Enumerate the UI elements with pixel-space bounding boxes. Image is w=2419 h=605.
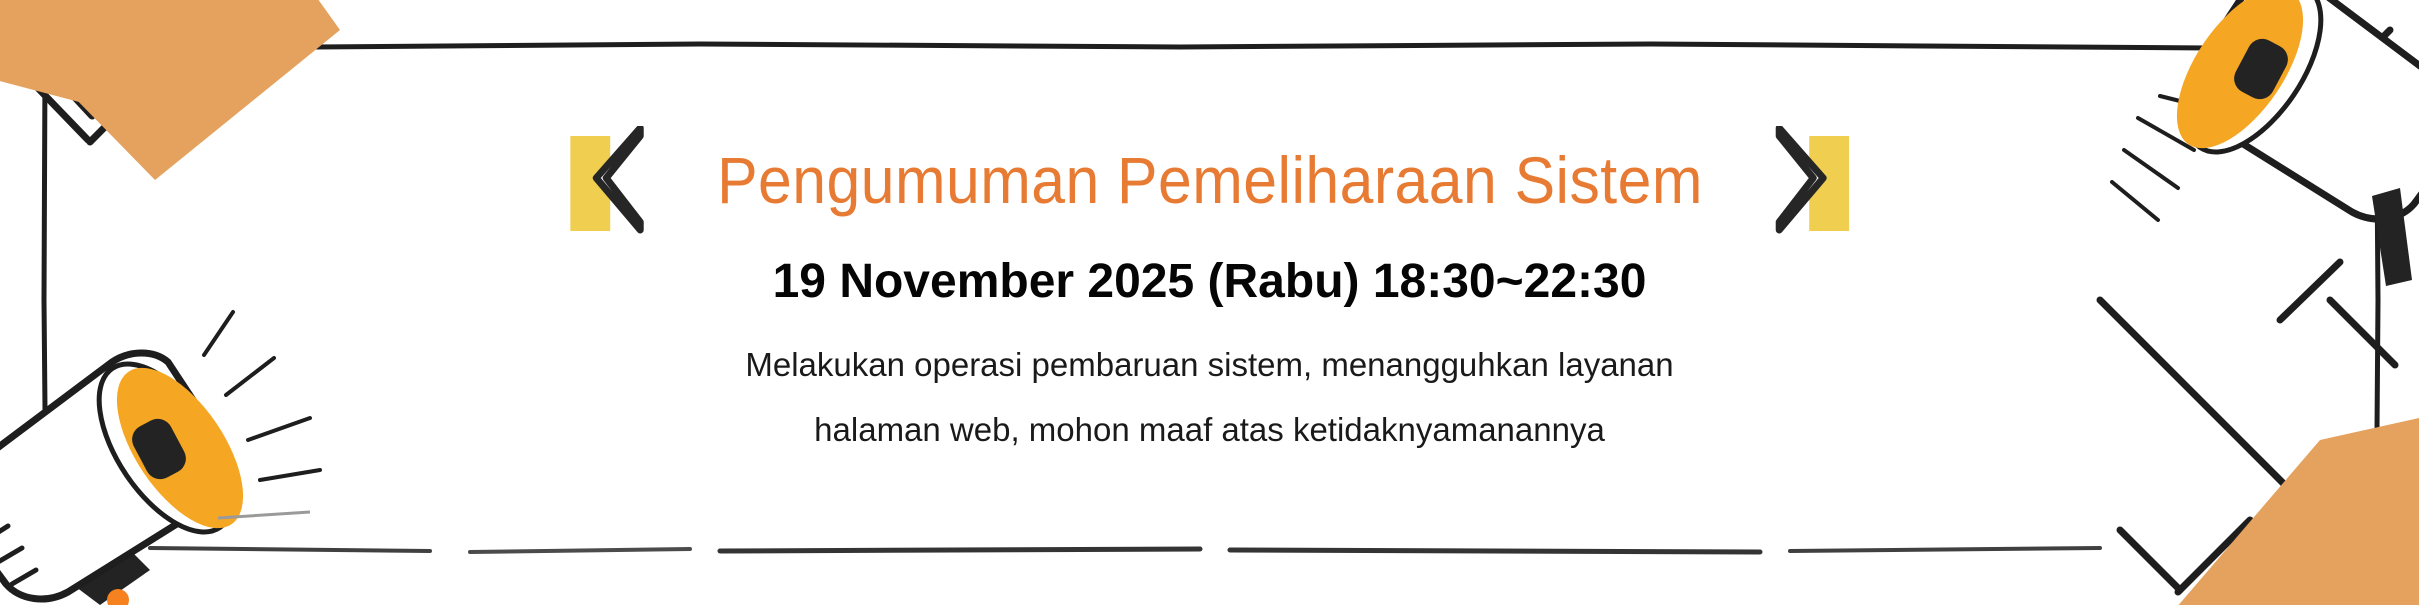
page-title: Pengumuman Pemeliharaan Sistem xyxy=(717,147,1703,213)
maintenance-datetime: 19 November 2025 (Rabu) 18:30~22:30 xyxy=(0,258,2419,306)
banner-content: Pengumuman Pemeliharaan Sistem 19 Novemb… xyxy=(0,0,2419,605)
right-angle-bracket-icon xyxy=(1771,126,1849,234)
body-text-line-1: Melakukan operasi pembaruan sistem, mena… xyxy=(0,348,2419,381)
title-row: Pengumuman Pemeliharaan Sistem xyxy=(570,126,1850,234)
maintenance-announcement-banner: Pengumuman Pemeliharaan Sistem 19 Novemb… xyxy=(0,0,2419,605)
left-angle-bracket-icon xyxy=(570,126,648,234)
body-text-line-2: halaman web, mohon maaf atas ketidaknyam… xyxy=(0,413,2419,446)
